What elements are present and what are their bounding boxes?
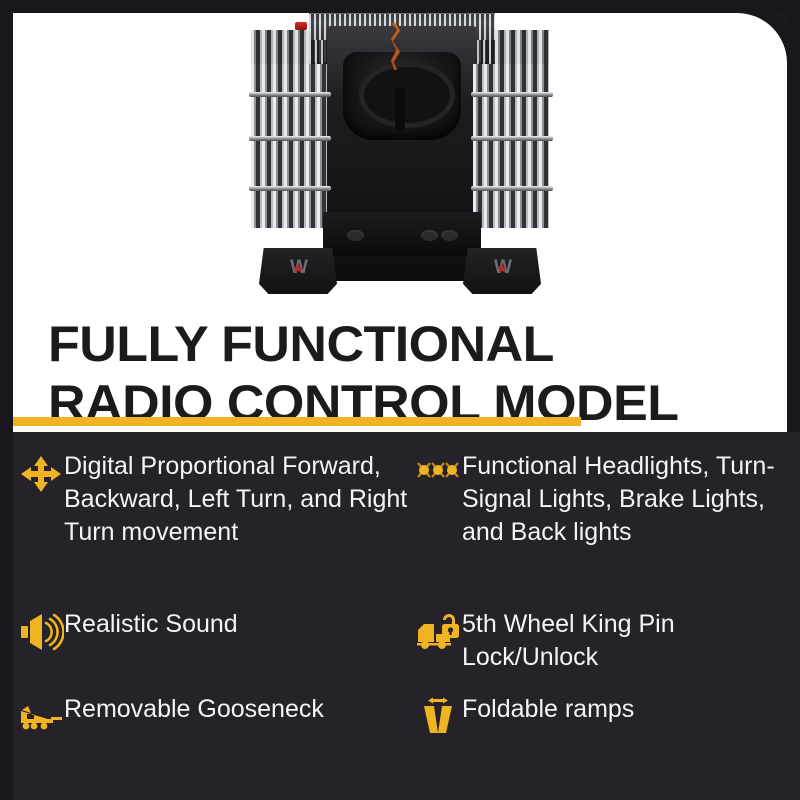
headline-block: FULLY FUNCTIONAL RADIO CONTROL MODEL	[48, 315, 768, 432]
chrome-stack-right	[473, 64, 549, 228]
feature-label: 5th Wheel King Pin Lock/Unlock	[462, 602, 800, 674]
feature-label: Removable Gooseneck	[64, 687, 324, 726]
accent-divider	[13, 417, 581, 426]
foldable-ramp-icon	[416, 697, 462, 737]
gooseneck-trailer-icon	[18, 697, 64, 737]
truck-photo: W W	[13, 13, 787, 315]
frame-edge-top	[0, 0, 800, 13]
headline-line-1: FULLY FUNCTIONAL	[48, 315, 787, 374]
product-feature-card: W W FULLY FUNCTIONAL RADIO CONTROL MODEL	[0, 0, 800, 800]
feature-row-1: Digital Proportional Forward, Backward, …	[0, 444, 800, 549]
feature-item: 5th Wheel King Pin Lock/Unlock	[410, 602, 800, 674]
speaker-sound-icon	[18, 612, 64, 652]
king-pin-slot	[395, 88, 405, 130]
tail-light	[347, 230, 364, 241]
four-way-arrows-icon	[18, 454, 64, 494]
mud-flap-right: W	[463, 248, 541, 294]
chrome-rail	[249, 136, 331, 141]
marker-light	[295, 22, 307, 30]
product-photo-panel: W W FULLY FUNCTIONAL RADIO CONTROL MODEL	[13, 13, 787, 432]
feature-row-3: Removable Gooseneck Foldable ramps	[0, 687, 800, 737]
feature-label: Digital Proportional Forward, Backward, …	[64, 444, 410, 549]
feature-item: Functional Headlights, Turn-Signal Light…	[410, 444, 800, 549]
truck-padlock-icon	[416, 612, 462, 652]
chrome-rail	[471, 186, 553, 191]
chrome-rail	[471, 92, 553, 97]
frame-edge-left	[0, 0, 13, 800]
feature-item: Removable Gooseneck	[0, 687, 410, 737]
feature-item: Realistic Sound	[0, 602, 410, 674]
chrome-rail	[249, 92, 331, 97]
chrome-rail	[249, 186, 331, 191]
tail-light	[421, 230, 438, 241]
chrome-stack-left	[251, 64, 327, 228]
feature-row-2: Realistic Sound	[0, 602, 800, 674]
feature-label: Functional Headlights, Turn-Signal Light…	[462, 444, 800, 549]
feature-label: Realistic Sound	[64, 602, 238, 641]
feature-list-panel: Digital Proportional Forward, Backward, …	[0, 432, 800, 800]
string-lights-icon	[416, 454, 462, 494]
feature-item: Digital Proportional Forward, Backward, …	[0, 444, 410, 549]
feature-label: Foldable ramps	[462, 687, 634, 726]
tail-light	[441, 230, 458, 241]
frame-edge-right	[787, 0, 800, 432]
mud-flap-left: W	[259, 248, 337, 294]
feature-item: Foldable ramps	[410, 687, 800, 737]
chrome-rail	[471, 136, 553, 141]
fifth-wheel-ring	[359, 62, 455, 128]
